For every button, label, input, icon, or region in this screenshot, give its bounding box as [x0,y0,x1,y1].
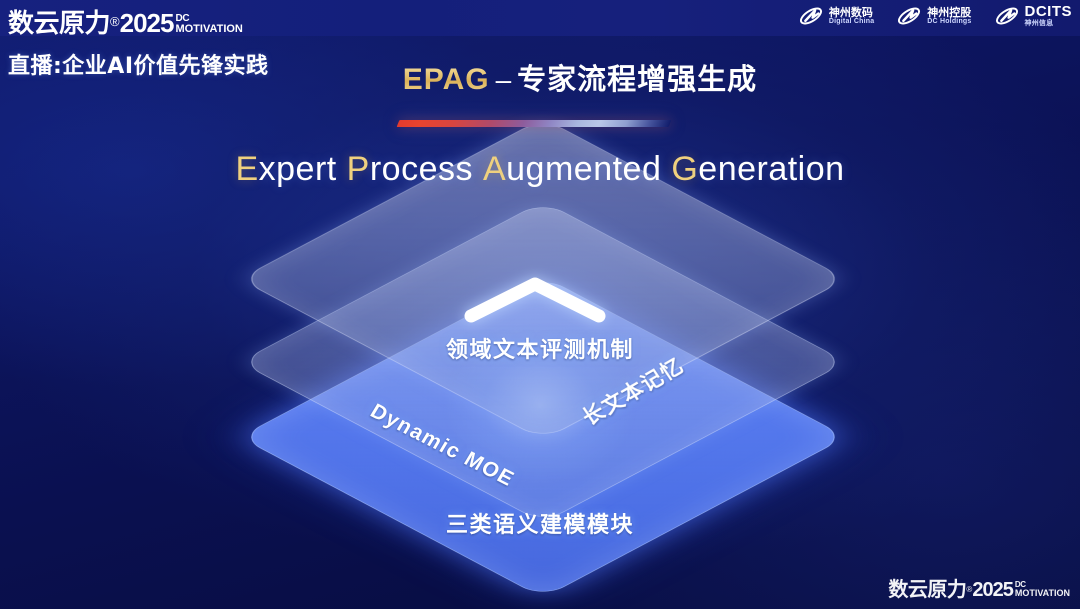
brand-logo-registered: ® [110,14,120,29]
brand-logo-year: 2025 [120,8,174,39]
subtitle-capital-g: G [671,150,698,188]
page-title-chinese: 专家流程增强生成 [517,62,757,96]
swoosh-icon [896,3,922,29]
subtitle-word-expert: xpert [259,150,337,188]
slide-canvas: 数云原力®2025DCMOTIVATION 直播:企业AI价值先锋实践 神州数码… [0,0,1080,609]
subtitle-capital-p: P [347,150,370,188]
subtitle-capital-e: E [235,150,258,188]
swoosh-icon [798,3,824,29]
watermark-dc-motivation: DCMOTIVATION [1015,581,1070,598]
page-subtitle: Expert Process Augmented Generation [0,150,1080,189]
partner-label-dc-holdings: 神州控股 DC Holdings [927,7,971,26]
partner-label-dcits: DCITS 神州信息 [1025,4,1073,27]
watermark-motivation: MOTIVATION [1015,589,1070,598]
partner-name-cn: 神州控股 [927,7,971,19]
gradient-divider [397,120,672,127]
page-title-dash: – [496,64,512,95]
layer-label-bottom: 三类语义建模模块 [0,507,1080,539]
brand-logo-cn: 数云原力 [8,3,110,40]
watermark-logo: 数云原力®2025DCMOTIVATION [888,573,1070,607]
partner-logo-dcits: DCITS 神州信息 [994,3,1073,29]
partner-label-digital-china: 神州数码 Digital China [829,7,874,26]
partner-name-en: DC Holdings [927,18,971,25]
swoosh-icon [994,3,1020,29]
subtitle-capital-a: A [483,150,506,188]
partner-name-en: 神州信息 [1025,20,1073,27]
brand-logo: 数云原力®2025DCMOTIVATION [8,3,243,46]
partner-logo-group: 神州数码 Digital China 神州控股 DC Holdings [798,3,1072,29]
brand-logo-motivation: MOTIVATION [175,24,242,35]
partner-logo-digital-china: 神州数码 Digital China [798,3,874,29]
subtitle-word-generation: eneration [698,150,844,188]
layer-label-top: 领域文本评测机制 [0,332,1080,364]
watermark-year: 2025 [972,579,1013,602]
watermark-cn: 数云原力 [888,573,966,602]
subtitle-word-augmented: ugmented [506,150,661,188]
brand-logo-dc-motivation: DCMOTIVATION [175,14,242,35]
watermark-registered: ® [966,585,972,594]
chevron-up-icon [463,272,607,324]
partner-logo-dc-holdings: 神州控股 DC Holdings [896,3,971,29]
page-title-acronym: EPAG [403,63,490,96]
partner-name-cn: DCITS [1025,4,1073,20]
subtitle-word-process: rocess [370,150,473,188]
partner-name-en: Digital China [829,18,874,25]
live-stream-title: 直播:企业AI价值先锋实践 [8,48,269,80]
partner-name-cn: 神州数码 [829,7,874,19]
